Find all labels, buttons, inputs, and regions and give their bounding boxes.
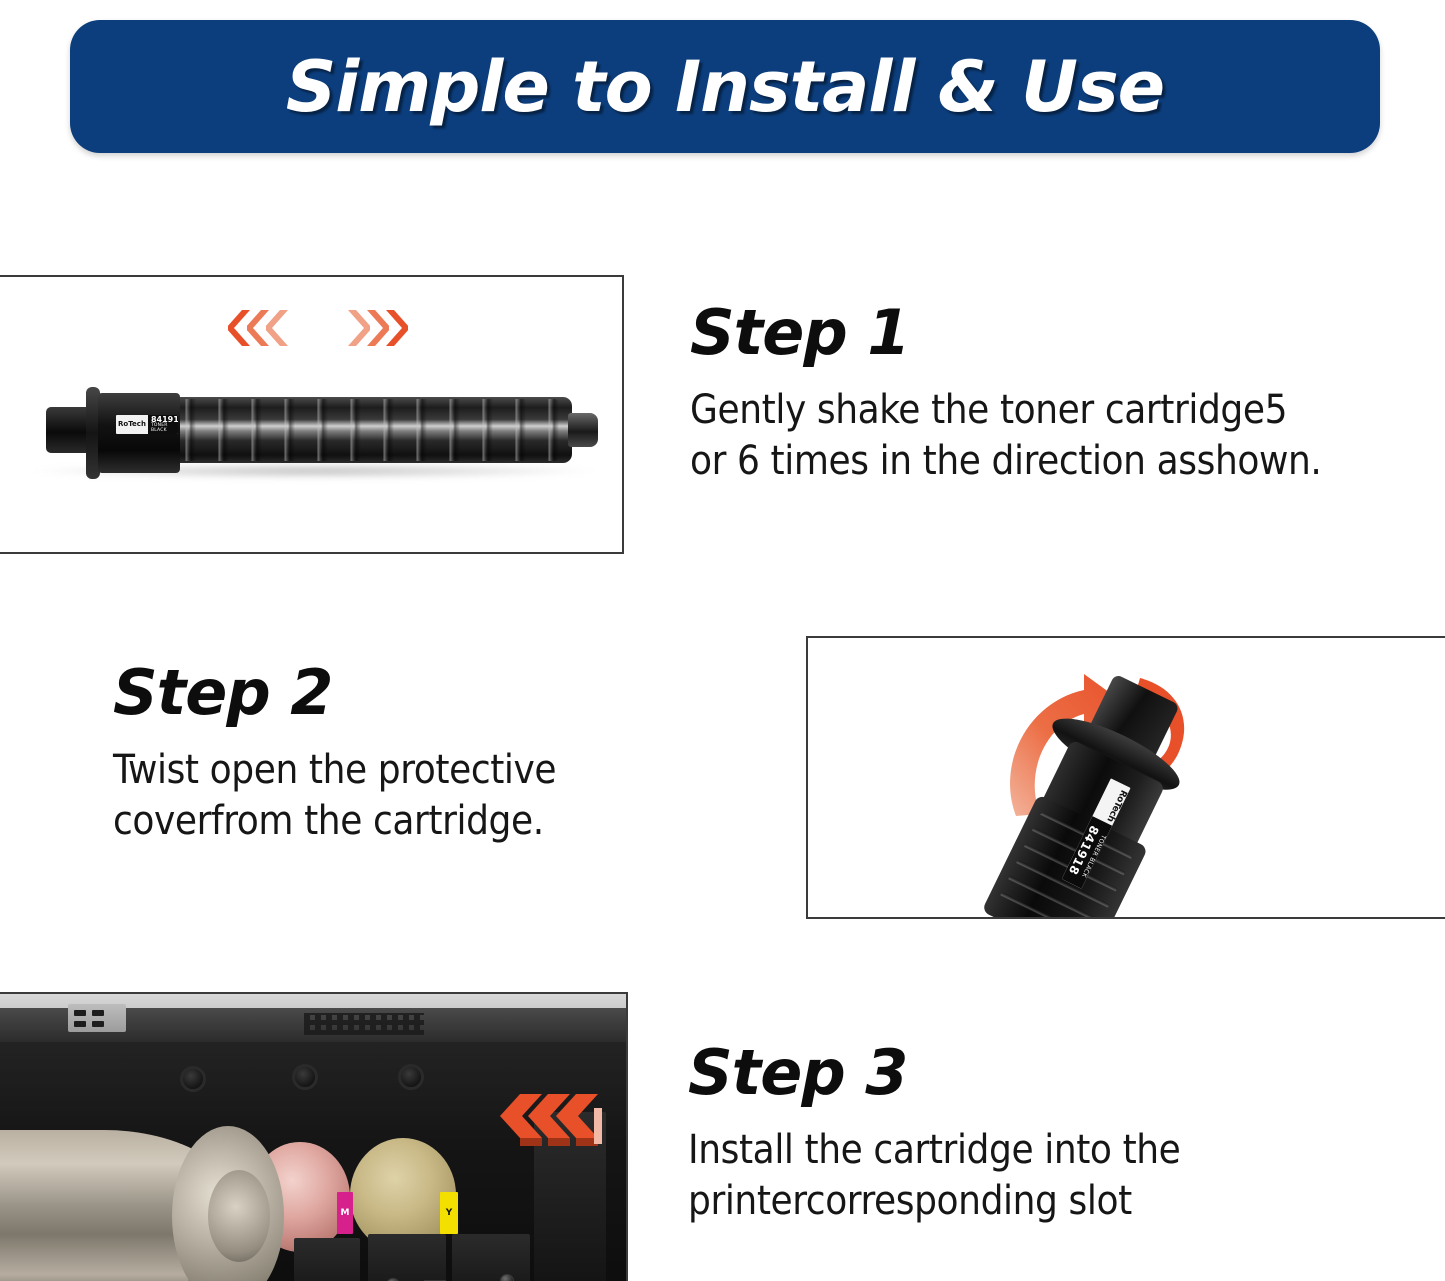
chevron-left-icon (266, 308, 292, 348)
step-1-text-block: Step 1 Gently shake the toner cartridge5… (690, 300, 1321, 487)
step-2-body-line-2: coverfrom the cartridge. (113, 796, 556, 847)
toner-bay: M M Y Y (0, 1042, 626, 1281)
step-2-body-line-1: Twist open the protective (113, 745, 556, 796)
chevron-right-icon (382, 308, 408, 348)
step-1-image-panel: RoTech 841918 TONER BLACK (0, 275, 624, 554)
printer-vent-grille (304, 1013, 424, 1035)
step-1-body-line-2: or 6 times in the direction asshown. (690, 436, 1321, 487)
cartridge-ribs (130, 399, 560, 461)
header-banner: Simple to Install & Use (70, 20, 1380, 153)
shake-arrows-left (228, 308, 285, 348)
step-1-body: Gently shake the toner cartridge5 or 6 t… (690, 385, 1321, 487)
step-2-body: Twist open the protective coverfrom the … (113, 745, 556, 847)
toner-slot-ring (180, 1066, 206, 1092)
toner-slot-ring (292, 1064, 318, 1090)
toner-cartridge-nose (208, 1170, 270, 1262)
step-1-body-line-1: Gently shake the toner cartridge5 (690, 385, 1321, 436)
toner-slot-ring (398, 1064, 424, 1090)
infographic-page: Simple to Install & Use (0, 0, 1445, 1281)
bay-block (294, 1238, 360, 1281)
step-2-text-block: Step 2 Twist open the protective coverfr… (113, 660, 556, 847)
step-2-heading: Step 2 (113, 660, 556, 725)
step-3-body-line-2: printercorresponding slot (688, 1176, 1180, 1227)
slot-tag-yellow: Y (440, 1192, 458, 1234)
slot-tag-magenta: M (337, 1192, 353, 1234)
cartridge-tip (568, 413, 598, 447)
cartridge-label-brand: RoTech (116, 421, 148, 428)
bay-screw (500, 1274, 514, 1281)
shake-arrows-right (344, 308, 401, 348)
page-title: Simple to Install & Use (286, 46, 1164, 128)
bay-block (452, 1234, 530, 1281)
step-3-body: Install the cartridge into the printerco… (688, 1125, 1180, 1227)
step-3-heading: Step 3 (688, 1040, 1180, 1105)
step-2-image-panel: RoTech 841918 TONER BLACK (806, 636, 1445, 919)
printer-port-plate (68, 1004, 126, 1032)
bay-block (368, 1234, 446, 1281)
step-3-body-line-1: Install the cartridge into the (688, 1125, 1180, 1176)
insert-arrows (490, 1090, 610, 1152)
step-3-image-panel: M M Y Y (0, 992, 628, 1281)
toner-cartridge-illustration: RoTech 841918 TONER BLACK (20, 387, 608, 487)
step-1-heading: Step 1 (690, 300, 1321, 365)
cartridge-label-subtitle: TONER BLACK (151, 424, 178, 433)
cartridge-label: RoTech 841918 TONER BLACK (116, 415, 178, 434)
step-3-text-block: Step 3 Install the cartridge into the pr… (688, 1040, 1180, 1227)
cartridge-label-codebox: 841918 TONER BLACK (148, 415, 178, 434)
